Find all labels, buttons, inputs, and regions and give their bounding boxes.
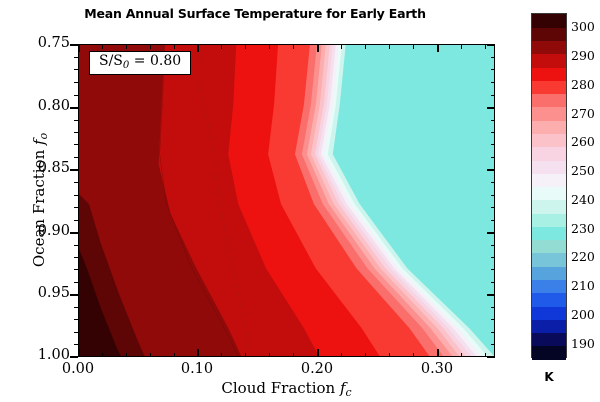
y-axis-title-var: f	[30, 139, 48, 145]
colorbar-band	[532, 293, 566, 307]
x-tick-minor	[150, 353, 151, 358]
x-tick-minor	[365, 353, 366, 358]
x-tick-minor-top	[293, 44, 294, 49]
x-tick-minor	[102, 353, 103, 358]
contour-plot-area	[78, 44, 495, 357]
y-axis-title-sub: o	[37, 133, 50, 140]
x-tick-minor	[389, 353, 390, 358]
x-tick-label: 0.30	[402, 361, 472, 377]
y-tick-major	[70, 44, 78, 46]
x-tick-major	[78, 349, 80, 357]
x-tick-minor	[485, 353, 486, 358]
colorbar-band	[532, 266, 566, 280]
y-tick-minor-right	[491, 82, 496, 83]
y-tick-minor-right	[491, 220, 496, 221]
contour-field	[79, 45, 494, 356]
x-tick-minor-top	[221, 44, 222, 49]
y-tick-minor-right	[491, 207, 496, 208]
colorbar-tick-label: 260	[571, 134, 595, 149]
y-tick-major-right	[487, 232, 495, 234]
colorbar-band	[532, 279, 566, 293]
y-tick-minor-right	[491, 282, 496, 283]
y-tick-minor	[74, 195, 79, 196]
colorbar-unit-label: K	[531, 370, 567, 384]
x-tick-major	[317, 349, 319, 357]
y-tick-minor	[74, 319, 79, 320]
colorbar-band	[532, 226, 566, 240]
colorbar	[531, 13, 567, 358]
y-axis-title-text: Ocean Fraction	[30, 145, 48, 267]
x-tick-minor	[341, 353, 342, 358]
colorbar-band	[532, 240, 566, 254]
colorbar-band	[532, 27, 566, 41]
y-tick-minor	[74, 332, 79, 333]
y-tick-minor	[74, 344, 79, 345]
colorbar-band	[532, 319, 566, 333]
colorbar-tick-label: 270	[571, 106, 595, 121]
y-tick-minor-right	[491, 344, 496, 345]
colorbar-band	[532, 41, 566, 55]
x-tick-minor	[126, 353, 127, 358]
x-tick-minor-top	[389, 44, 390, 49]
y-tick-minor-right	[491, 95, 496, 96]
x-tick-major-top	[78, 44, 80, 52]
colorbar-band	[532, 173, 566, 187]
colorbar-tick-label: 240	[571, 192, 595, 207]
y-tick-minor	[74, 220, 79, 221]
colorbar-tick-label: 200	[571, 307, 595, 322]
x-axis-title-sub: c	[346, 386, 352, 399]
y-tick-minor	[74, 207, 79, 208]
y-tick-minor-right	[491, 195, 496, 196]
y-tick-minor	[74, 69, 79, 70]
y-tick-minor-right	[491, 69, 496, 70]
x-tick-label: 0.20	[282, 361, 352, 377]
y-tick-minor-right	[491, 245, 496, 246]
colorbar-band	[532, 213, 566, 227]
x-tick-minor-top	[413, 44, 414, 49]
y-tick-minor	[74, 82, 79, 83]
stellar-flux-annotation: S/S0 = 0.80	[89, 51, 191, 75]
colorbar-tick-label: 220	[571, 249, 595, 264]
y-tick-minor	[74, 282, 79, 283]
colorbar-tick-label: 300	[571, 19, 595, 34]
annotation-label: S/S	[99, 53, 123, 69]
colorbar-band	[532, 67, 566, 81]
colorbar-band	[532, 306, 566, 320]
colorbar-tick-label: 230	[571, 221, 595, 236]
y-tick-major-right	[487, 356, 495, 358]
colorbar-tick-label: 250	[571, 163, 595, 178]
x-tick-minor-top	[365, 44, 366, 49]
colorbar-band	[532, 94, 566, 108]
x-tick-minor-top	[461, 44, 462, 49]
colorbar-band	[532, 200, 566, 214]
x-tick-label: 0.00	[43, 361, 113, 377]
y-tick-minor-right	[491, 257, 496, 258]
colorbar-band	[532, 120, 566, 134]
colorbar-band	[532, 160, 566, 174]
y-tick-major-right	[487, 294, 495, 296]
figure-root: Mean Annual Surface Temperature for Earl…	[0, 0, 600, 402]
colorbar-band	[532, 14, 566, 28]
colorbar-tick-label: 280	[571, 77, 595, 92]
colorbar-band	[532, 346, 566, 360]
colorbar-tick-label: 190	[571, 336, 595, 351]
x-tick-minor-top	[485, 44, 486, 49]
x-axis-title-text: Cloud Fraction	[221, 379, 340, 397]
y-tick-minor-right	[491, 332, 496, 333]
colorbar-band	[532, 133, 566, 147]
y-tick-minor	[74, 257, 79, 258]
x-tick-minor	[174, 353, 175, 358]
x-tick-major	[197, 349, 199, 357]
y-tick-minor	[74, 245, 79, 246]
y-tick-minor-right	[491, 57, 496, 58]
colorbar-tick-label: 290	[571, 48, 595, 63]
y-tick-minor	[74, 144, 79, 145]
colorbar-band	[532, 187, 566, 201]
y-tick-major-right	[487, 169, 495, 171]
y-tick-minor-right	[491, 269, 496, 270]
colorbar-band	[532, 147, 566, 161]
x-tick-minor	[269, 353, 270, 358]
x-tick-major-top	[317, 44, 319, 52]
y-tick-minor	[74, 182, 79, 183]
y-tick-minor-right	[491, 319, 496, 320]
y-tick-minor	[74, 157, 79, 158]
annotation-subscript: 0	[123, 60, 129, 71]
y-tick-minor-right	[491, 144, 496, 145]
y-tick-minor	[74, 95, 79, 96]
colorbar-band	[532, 54, 566, 68]
y-tick-minor	[74, 269, 79, 270]
x-tick-minor-top	[102, 44, 103, 49]
annotation-value: = 0.80	[134, 53, 181, 69]
y-tick-minor	[74, 132, 79, 133]
y-tick-minor	[74, 120, 79, 121]
x-tick-minor-top	[174, 44, 175, 49]
x-tick-minor-top	[269, 44, 270, 49]
colorbar-band	[532, 80, 566, 94]
x-tick-major-top	[197, 44, 199, 52]
y-tick-major	[70, 232, 78, 234]
y-tick-minor-right	[491, 120, 496, 121]
y-tick-minor-right	[491, 157, 496, 158]
x-tick-minor-top	[150, 44, 151, 49]
x-tick-major	[437, 349, 439, 357]
x-tick-minor-top	[126, 44, 127, 49]
y-tick-minor-right	[491, 307, 496, 308]
y-axis-title: Ocean Fraction fo	[30, 50, 50, 350]
colorbar-band	[532, 332, 566, 346]
colorbar-band	[532, 253, 566, 267]
y-tick-major	[70, 169, 78, 171]
y-tick-label: 0.75	[14, 35, 70, 51]
page-title: Mean Annual Surface Temperature for Earl…	[0, 6, 510, 21]
x-tick-minor	[461, 353, 462, 358]
y-tick-minor-right	[491, 182, 496, 183]
x-tick-label: 0.10	[162, 361, 232, 377]
colorbar-band	[532, 107, 566, 121]
x-tick-minor	[221, 353, 222, 358]
y-tick-minor	[74, 307, 79, 308]
y-tick-minor-right	[491, 132, 496, 133]
y-tick-minor	[74, 57, 79, 58]
y-tick-major-right	[487, 107, 495, 109]
contour-field-svg	[79, 45, 494, 356]
x-axis-title: Cloud Fraction fc	[78, 379, 495, 399]
x-tick-major-top	[437, 44, 439, 52]
y-tick-major-right	[487, 44, 495, 46]
x-tick-minor	[245, 353, 246, 358]
x-tick-minor	[413, 353, 414, 358]
x-tick-minor-top	[341, 44, 342, 49]
y-tick-major	[70, 356, 78, 358]
x-tick-minor-top	[245, 44, 246, 49]
x-tick-minor	[293, 353, 294, 358]
colorbar-tick-label: 210	[571, 278, 595, 293]
y-tick-major	[70, 294, 78, 296]
y-tick-major	[70, 107, 78, 109]
